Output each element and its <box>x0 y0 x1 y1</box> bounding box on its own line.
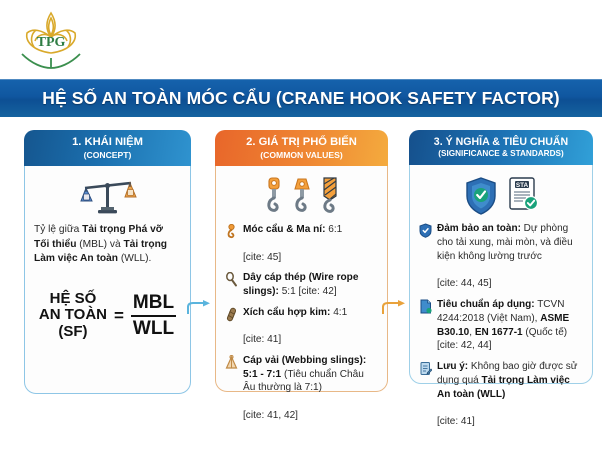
formula-fraction: MBL WLL <box>131 293 176 339</box>
crane-hook-icon <box>263 176 285 218</box>
panel-significance-subtitle: (SIGNIFICANCE & STANDARDS) <box>413 149 589 159</box>
panel-common-values-title: 2. GIÁ TRỊ PHỔ BIẾN <box>219 136 384 149</box>
standards-document-icon: STA <box>506 175 540 217</box>
note-icon <box>419 361 432 376</box>
fraction-bar <box>131 315 176 317</box>
shield-icon <box>419 223 432 238</box>
formula-line-3: (SF) <box>39 324 107 341</box>
list-item: Xích cẩu hợp kim: 4:1 [cite: 41] <box>225 306 378 347</box>
concept-text-part: (WLL). <box>118 253 151 264</box>
document-label: STA <box>516 182 529 189</box>
item-value: 4:1 <box>330 307 347 318</box>
infographic-page: TPG HỆ SỐ AN TOÀN MÓC CẨU (CRANE HOOK SA… <box>0 0 602 451</box>
item-label: Cáp vải (Webbing slings): <box>243 355 366 366</box>
list-item-text: Tiêu chuẩn áp dụng: TCVN 4244:2018 (Việt… <box>437 298 583 353</box>
concept-description: Tỷ lệ giữa Tải trọng Phá vỡ Tối thiểu (M… <box>34 223 181 266</box>
list-item-text: Dây cáp thép (Wire rope slings): 5:1 [ci… <box>243 271 378 298</box>
item-standard-2: EN 1677-1 <box>475 327 523 338</box>
list-item: Đảm bảo an toàn: Dự phòng cho tải xung, … <box>419 222 583 291</box>
balance-scale-icon <box>34 174 181 218</box>
webbing-sling-icon <box>225 355 238 370</box>
formula-left-label: HỆ SỐ AN TOÀN (SF) <box>39 291 107 341</box>
concept-text-part: (MBL) và <box>76 239 123 250</box>
list-item: Lưu ý: Không bao giờ được sử dụng quá Tả… <box>419 360 583 429</box>
list-item-text: Móc cẩu & Ma ní: 6:1 [cite: 45] <box>243 223 342 264</box>
panel-concept-header: 1. KHÁI NIỆM (CONCEPT) <box>24 130 191 166</box>
panel-significance-title: 3. Ý NGHĨA & TIÊU CHUẨN <box>413 136 589 148</box>
standards-icon-group: STA <box>419 173 583 217</box>
list-item-text: Xích cẩu hợp kim: 4:1 [cite: 41] <box>243 306 347 347</box>
concept-text-part: Tỷ lệ giữa <box>34 224 82 235</box>
list-item: Cáp vải (Webbing slings):5:1 - 7:1 (Tiêu… <box>225 354 378 423</box>
alloy-chain-icon <box>225 307 238 322</box>
safety-factor-formula: HỆ SỐ AN TOÀN (SF) = MBL WLL <box>34 291 181 341</box>
formula-line-1: HỆ SỐ <box>39 291 107 308</box>
list-item: Dây cáp thép (Wire rope slings): 5:1 [ci… <box>225 271 378 298</box>
panel-significance-standards: 3. Ý NGHĨA & TIÊU CHUẨN (SIGNIFICANCE & … <box>409 130 593 384</box>
crane-hook-hatched-icon <box>319 176 341 218</box>
item-label: Tiêu chuẩn áp dụng: <box>437 299 535 310</box>
item-citation: [cite: 44, 45] <box>437 278 491 289</box>
item-citation: [cite: 41] <box>243 334 281 345</box>
wire-rope-sling-icon <box>225 272 238 287</box>
formula-numerator: MBL <box>131 293 176 313</box>
panel-concept-subtitle: (CONCEPT) <box>28 150 187 160</box>
title-banner: HỆ SỐ AN TOÀN MÓC CẨU (CRANE HOOK SAFETY… <box>0 79 602 117</box>
item-citation: [cite: 45] <box>243 252 281 263</box>
common-values-list: Móc cẩu & Ma ní: 6:1 [cite: 45] Dây cáp … <box>225 223 378 422</box>
item-label: Lưu ý: <box>437 361 468 372</box>
panel-common-values-header: 2. GIÁ TRỊ PHỔ BIẾN (COMMON VALUES) <box>215 130 388 166</box>
document-icon <box>419 299 432 314</box>
item-label: Móc cẩu & Ma ní: <box>243 224 325 235</box>
list-item-text: Lưu ý: Không bao giờ được sử dụng quá Tả… <box>437 360 583 429</box>
formula-denominator: WLL <box>131 319 176 339</box>
panel-significance-header: 3. Ý NGHĨA & TIÊU CHUẨN (SIGNIFICANCE & … <box>409 130 593 165</box>
arrow-connector-2 <box>381 300 409 321</box>
shield-check-icon <box>462 175 500 217</box>
list-item: Móc cẩu & Ma ní: 6:1 [cite: 45] <box>225 223 378 264</box>
panel-common-values: 2. GIÁ TRỊ PHỔ BIẾN (COMMON VALUES) <box>215 130 388 392</box>
item-value: 5:1 [cite: 42] <box>279 286 337 297</box>
item-label: Xích cẩu hợp kim: <box>243 307 330 318</box>
crane-hook-icon <box>291 176 313 218</box>
list-item: Tiêu chuẩn áp dụng: TCVN 4244:2018 (Việt… <box>419 298 583 353</box>
item-citation: [cite: 41] <box>437 416 475 427</box>
list-item-text: Đảm bảo an toàn: Dự phòng cho tải xung, … <box>437 222 583 291</box>
panels-row: 1. KHÁI NIỆM (CONCEPT) <box>0 130 602 420</box>
standards-list: Đảm bảo an toàn: Dự phòng cho tải xung, … <box>419 222 583 429</box>
arrow-connector-1 <box>186 300 214 321</box>
item-label: Đảm bảo an toàn: <box>437 223 521 234</box>
hook-icon <box>225 224 238 239</box>
item-value: 6:1 <box>325 224 342 235</box>
list-item-text: Cáp vải (Webbing slings):5:1 - 7:1 (Tiêu… <box>243 354 378 423</box>
item-citation: [cite: 41, 42] <box>243 410 298 421</box>
crane-hooks-icon-group <box>225 174 378 218</box>
page-title: HỆ SỐ AN TOÀN MÓC CẨU (CRANE HOOK SAFETY… <box>42 88 560 109</box>
formula-equals-sign: = <box>114 306 124 326</box>
logo-text: TPG <box>37 35 66 50</box>
panel-concept-title: 1. KHÁI NIỆM <box>28 136 187 149</box>
formula-line-2: AN TOÀN <box>39 307 107 324</box>
panel-concept: 1. KHÁI NIỆM (CONCEPT) <box>24 130 191 394</box>
panel-common-values-subtitle: (COMMON VALUES) <box>219 150 384 160</box>
item-range: 5:1 - 7:1 <box>243 369 281 380</box>
tpg-lotus-logo: TPG <box>12 4 90 70</box>
